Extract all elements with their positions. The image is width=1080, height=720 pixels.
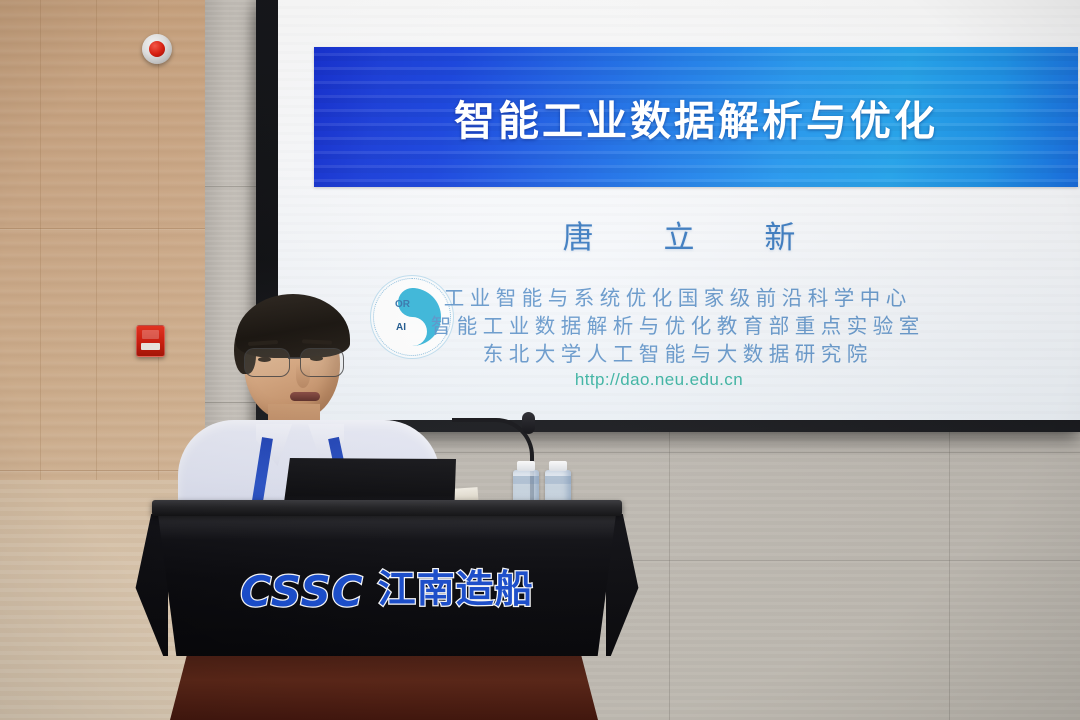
presentation-photo-scene: 智能工业数据解析与优化 唐 立 新 OR AI 工业智能与系统优化国家级前沿科学… — [0, 0, 1080, 720]
slide-title-banner: 智能工业数据解析与优化 — [314, 47, 1078, 187]
slide-presenter-name: 唐 立 新 — [278, 212, 1080, 257]
bottle-cap — [517, 461, 535, 471]
bottle-cap — [549, 461, 567, 471]
microphone-head-icon — [522, 412, 535, 434]
mouth — [290, 392, 320, 401]
podium-desktop-edge — [152, 500, 622, 516]
lectern-podium: CSSC江南造船 — [152, 500, 622, 720]
alarm-bell-icon — [142, 34, 172, 64]
fire-alarm-call-point-icon — [136, 325, 165, 357]
podium-brand-logo: CSSC江南造船 — [152, 558, 622, 616]
podium-brand-chinese: 江南造船 — [378, 558, 534, 613]
slide-title: 智能工业数据解析与优化 — [454, 87, 938, 147]
nose — [296, 364, 310, 388]
podium-wooden-base — [170, 654, 598, 720]
lens-left — [244, 348, 290, 377]
podium-brand-latin: CSSC — [240, 567, 363, 616]
